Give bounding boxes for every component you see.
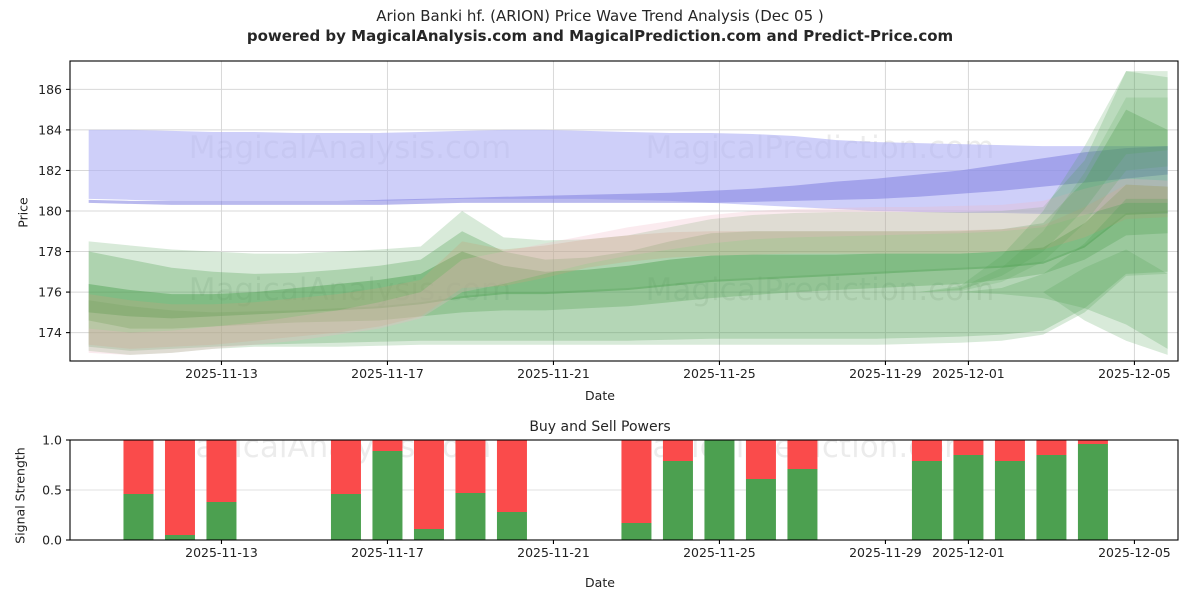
price-y-tick-label: 180 (38, 204, 62, 219)
price-y-tick-label: 176 (38, 285, 62, 300)
sell-power-bar[interactable] (912, 440, 942, 461)
price-x-tick-label: 2025-11-21 (517, 366, 590, 381)
price-x-tick-label: 2025-11-13 (185, 366, 258, 381)
bar-group[interactable] (704, 440, 734, 540)
bar-group[interactable] (497, 440, 527, 540)
price-x-tick-label: 2025-12-01 (932, 366, 1005, 381)
sell-power-bar[interactable] (621, 440, 651, 523)
sell-power-bar[interactable] (123, 440, 153, 494)
price-x-tick-label: 2025-11-25 (683, 366, 756, 381)
buy-power-bar[interactable] (995, 461, 1025, 540)
bar-group[interactable] (746, 440, 776, 540)
sell-power-bar[interactable] (331, 440, 361, 494)
power-x-tick-label: 2025-11-25 (683, 545, 756, 560)
power-y-tick-label: 0.5 (42, 483, 62, 498)
buy-power-bar[interactable] (621, 523, 651, 540)
price-axis-label: Price (16, 183, 31, 243)
buy-power-bar[interactable] (912, 461, 942, 540)
bar-group[interactable] (123, 440, 153, 540)
sell-power-bar[interactable] (995, 440, 1025, 461)
price-y-tick-label: 184 (38, 122, 62, 137)
price-wave-bands (89, 71, 1168, 355)
buy-power-bar[interactable] (455, 493, 485, 540)
power-x-tick-label: 2025-11-17 (351, 545, 424, 560)
price-x-tick-label: 2025-12-05 (1098, 366, 1171, 381)
price-x-tick-label: 2025-11-29 (849, 366, 922, 381)
sell-power-bar[interactable] (414, 440, 444, 529)
bar-group[interactable] (663, 440, 693, 540)
sell-power-bar[interactable] (1078, 440, 1108, 444)
buy-power-bar[interactable] (1036, 455, 1066, 540)
bar-group[interactable] (953, 440, 983, 540)
price-y-tick-label: 174 (38, 325, 62, 340)
bar-group[interactable] (1036, 440, 1066, 540)
price-wave-plot: MagicalAnalysis.comMagicalPrediction.com… (0, 0, 1200, 405)
sell-power-bar[interactable] (497, 440, 527, 512)
sell-power-bar[interactable] (746, 440, 776, 479)
buy-power-bar[interactable] (1078, 444, 1108, 540)
power-x-tick-label: 2025-11-29 (849, 545, 922, 560)
buy-power-bar[interactable] (206, 502, 236, 540)
buy-sell-powers-panel: Buy and Sell Powers MagicalAnalysis.comM… (0, 405, 1200, 600)
bar-group[interactable] (331, 440, 361, 540)
sell-power-bar[interactable] (372, 440, 402, 451)
sell-power-bar[interactable] (455, 440, 485, 493)
bar-group[interactable] (621, 440, 651, 540)
sell-power-bar[interactable] (165, 440, 195, 535)
buy-power-bar[interactable] (165, 535, 195, 540)
bar-group[interactable] (206, 440, 236, 540)
price-y-tick-label: 178 (38, 244, 62, 259)
buy-power-bar[interactable] (953, 455, 983, 540)
price-y-ticks: 174176178180182184186 (38, 82, 70, 340)
buy-power-bar[interactable] (787, 469, 817, 540)
buy-sell-x-axis-label: Date (0, 575, 1200, 590)
buy-power-bar[interactable] (123, 494, 153, 540)
price-x-ticks: 2025-11-132025-11-172025-11-212025-11-25… (185, 361, 1171, 381)
price-y-tick-label: 182 (38, 163, 62, 178)
price-x-tick-label: 2025-11-17 (351, 366, 424, 381)
bar-group[interactable] (414, 440, 444, 540)
buy-power-bar[interactable] (497, 512, 527, 540)
buy-power-bar[interactable] (372, 451, 402, 540)
bar-group[interactable] (912, 440, 942, 540)
price-wave-panel: MagicalAnalysis.comMagicalPrediction.com… (0, 0, 1200, 405)
bar-group[interactable] (455, 440, 485, 540)
bar-group[interactable] (995, 440, 1025, 540)
sell-power-bar[interactable] (787, 440, 817, 469)
power-y-ticks: 0.00.51.0 (42, 433, 70, 548)
bar-group[interactable] (372, 440, 402, 540)
buy-power-bar[interactable] (414, 529, 444, 540)
buy-power-bar[interactable] (663, 461, 693, 540)
buy-power-bar[interactable] (331, 494, 361, 540)
signal-strength-axis-label: Signal Strength (13, 436, 28, 556)
sell-power-bar[interactable] (1036, 440, 1066, 455)
power-x-tick-label: 2025-12-01 (932, 545, 1005, 560)
price-y-tick-label: 186 (38, 82, 62, 97)
bar-group[interactable] (787, 440, 817, 540)
bar-group[interactable] (165, 440, 195, 540)
sell-power-bar[interactable] (663, 440, 693, 461)
sell-power-bar[interactable] (206, 440, 236, 502)
watermark-layer: MagicalAnalysis.comMagicalPrediction.com (169, 429, 975, 465)
power-y-tick-label: 0.0 (42, 533, 62, 548)
bar-group[interactable] (1078, 440, 1108, 540)
power-y-tick-label: 1.0 (42, 433, 62, 448)
power-x-ticks: 2025-11-132025-11-172025-11-212025-11-25… (185, 540, 1171, 560)
buy-power-bar[interactable] (746, 479, 776, 540)
power-x-tick-label: 2025-12-05 (1098, 545, 1171, 560)
buy-power-bar[interactable] (704, 440, 734, 540)
buy-sell-plot: MagicalAnalysis.comMagicalPrediction.com… (0, 405, 1200, 600)
power-x-tick-label: 2025-11-21 (517, 545, 590, 560)
power-x-tick-label: 2025-11-13 (185, 545, 258, 560)
sell-power-bar[interactable] (953, 440, 983, 455)
price-x-axis-label: Date (0, 388, 1200, 403)
